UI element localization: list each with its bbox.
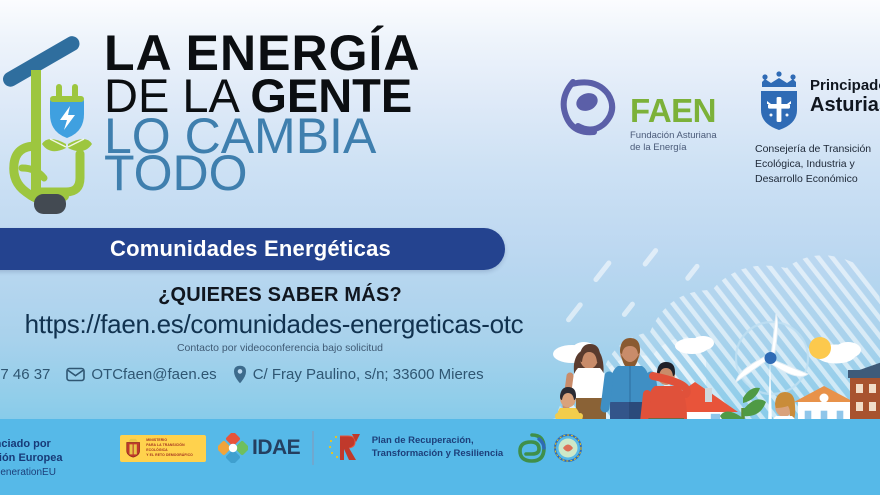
- prtr-line-1: Plan de Recuperación,: [372, 435, 503, 448]
- footer-logo-strip: MINISTERIO PARA LA TRANSICIÓN ECOLÓGICA …: [120, 431, 585, 465]
- footer-divider: [312, 431, 314, 465]
- contact-email-text: OTCfaen@faen.es: [91, 366, 216, 383]
- contact-email[interactable]: OTCfaen@faen.es: [66, 366, 216, 383]
- faen-subtitle-line-1: Fundación Asturiana: [630, 130, 717, 142]
- faen-subtitle: Fundación Asturiana de la Energía: [630, 130, 717, 154]
- eco-e-badge-icon: [515, 431, 549, 465]
- eu-funding-line-2: la Unión Europea: [0, 451, 62, 465]
- faen-subtitle-line-2: de la Energía: [630, 142, 717, 154]
- principado-title-line-1: Principado: [810, 78, 880, 94]
- prtr-text: Plan de Recuperación, Transformación y R…: [372, 435, 503, 461]
- gobierno-line-3: Y EL RETO DEMOGRÁFICO: [146, 453, 202, 458]
- escudo-espana-icon: [124, 437, 142, 459]
- footer-bar: Financiado por la Unión Europea NextGene…: [0, 419, 880, 495]
- idae-logo: IDAE: [218, 433, 300, 463]
- eco-circular-badge-icon: [551, 431, 585, 465]
- idae-wordmark: IDAE: [252, 436, 300, 460]
- contact-address: C/ Fray Paulino, s/n; 33600 Mieres: [233, 365, 484, 384]
- solar-hand-plug-icon: [2, 26, 106, 224]
- poster-canvas: LA ENERGÍA DE LA GENTE LO CAMBIA TODO FA…: [0, 0, 880, 495]
- faen-logo: FAEN Fundación Asturiana de la Energía: [556, 72, 717, 154]
- eu-funding-line-1: Financiado por: [0, 437, 62, 451]
- prtr-line-2: Transformación y Resiliencia: [372, 448, 503, 461]
- cta-note: Contacto por videoconferencia bajo solic…: [0, 342, 560, 354]
- gobierno-de-espana-logo: MINISTERIO PARA LA TRANSICIÓN ECOLÓGICA …: [120, 435, 206, 462]
- prtr-flag-icon: [326, 432, 364, 464]
- principado-title-line-2: Asturias: [810, 95, 880, 116]
- contact-phone[interactable]: 07 46 37: [0, 366, 50, 383]
- idae-diamond-icon: [218, 433, 248, 463]
- contact-phone-text: 07 46 37: [0, 366, 50, 383]
- principado-subtitle-line-2: Ecológica, Industria y: [755, 157, 880, 172]
- principado-subtitle-line-3: Desarrollo Económico: [755, 172, 880, 187]
- faen-wordmark: FAEN: [630, 94, 717, 127]
- plan-recuperacion-logo: Plan de Recuperación, Transformación y R…: [326, 432, 503, 464]
- gobierno-line-2: PARA LA TRANSICIÓN ECOLÓGICA: [146, 443, 202, 453]
- map-pin-icon: [233, 365, 247, 384]
- eu-funding-text: Financiado por la Unión Europea NextGene…: [0, 437, 62, 479]
- comunidades-energeticas-banner: Comunidades Energéticas: [0, 228, 505, 270]
- principado-subtitle: Consejería de Transición Ecológica, Indu…: [755, 142, 880, 187]
- faen-eye-swirl-icon: [556, 72, 624, 138]
- cta-block: ¿QUIERES SABER MÁS? https://faen.es/comu…: [0, 284, 560, 354]
- faen-text-block: FAEN Fundación Asturiana de la Energía: [630, 72, 717, 154]
- eco-badges: [515, 431, 585, 465]
- gobierno-text: MINISTERIO PARA LA TRANSICIÓN ECOLÓGICA …: [146, 438, 202, 458]
- cta-url-link[interactable]: https://faen.es/comunidades-energeticas-…: [0, 309, 560, 340]
- contact-address-text: C/ Fray Paulino, s/n; 33600 Mieres: [253, 366, 484, 383]
- principado-subtitle-line-1: Consejería de Transición: [755, 142, 880, 157]
- envelope-icon: [66, 367, 85, 382]
- banner-label: Comunidades Energéticas: [84, 236, 391, 262]
- principado-text-block: Principado Asturias: [810, 70, 880, 116]
- cta-question: ¿QUIERES SABER MÁS?: [0, 284, 560, 307]
- headline: LA ENERGÍA DE LA GENTE LO CAMBIA TODO: [104, 30, 574, 196]
- contact-row: 07 46 37 OTCfaen@faen.es C/ Fray Paulino…: [0, 365, 570, 384]
- eu-funding-line-3: NextGenerationEU: [0, 466, 62, 479]
- principado-asturias-logo: Principado Asturias Consejería de Transi…: [755, 70, 880, 187]
- asturias-crest-icon: [755, 70, 803, 132]
